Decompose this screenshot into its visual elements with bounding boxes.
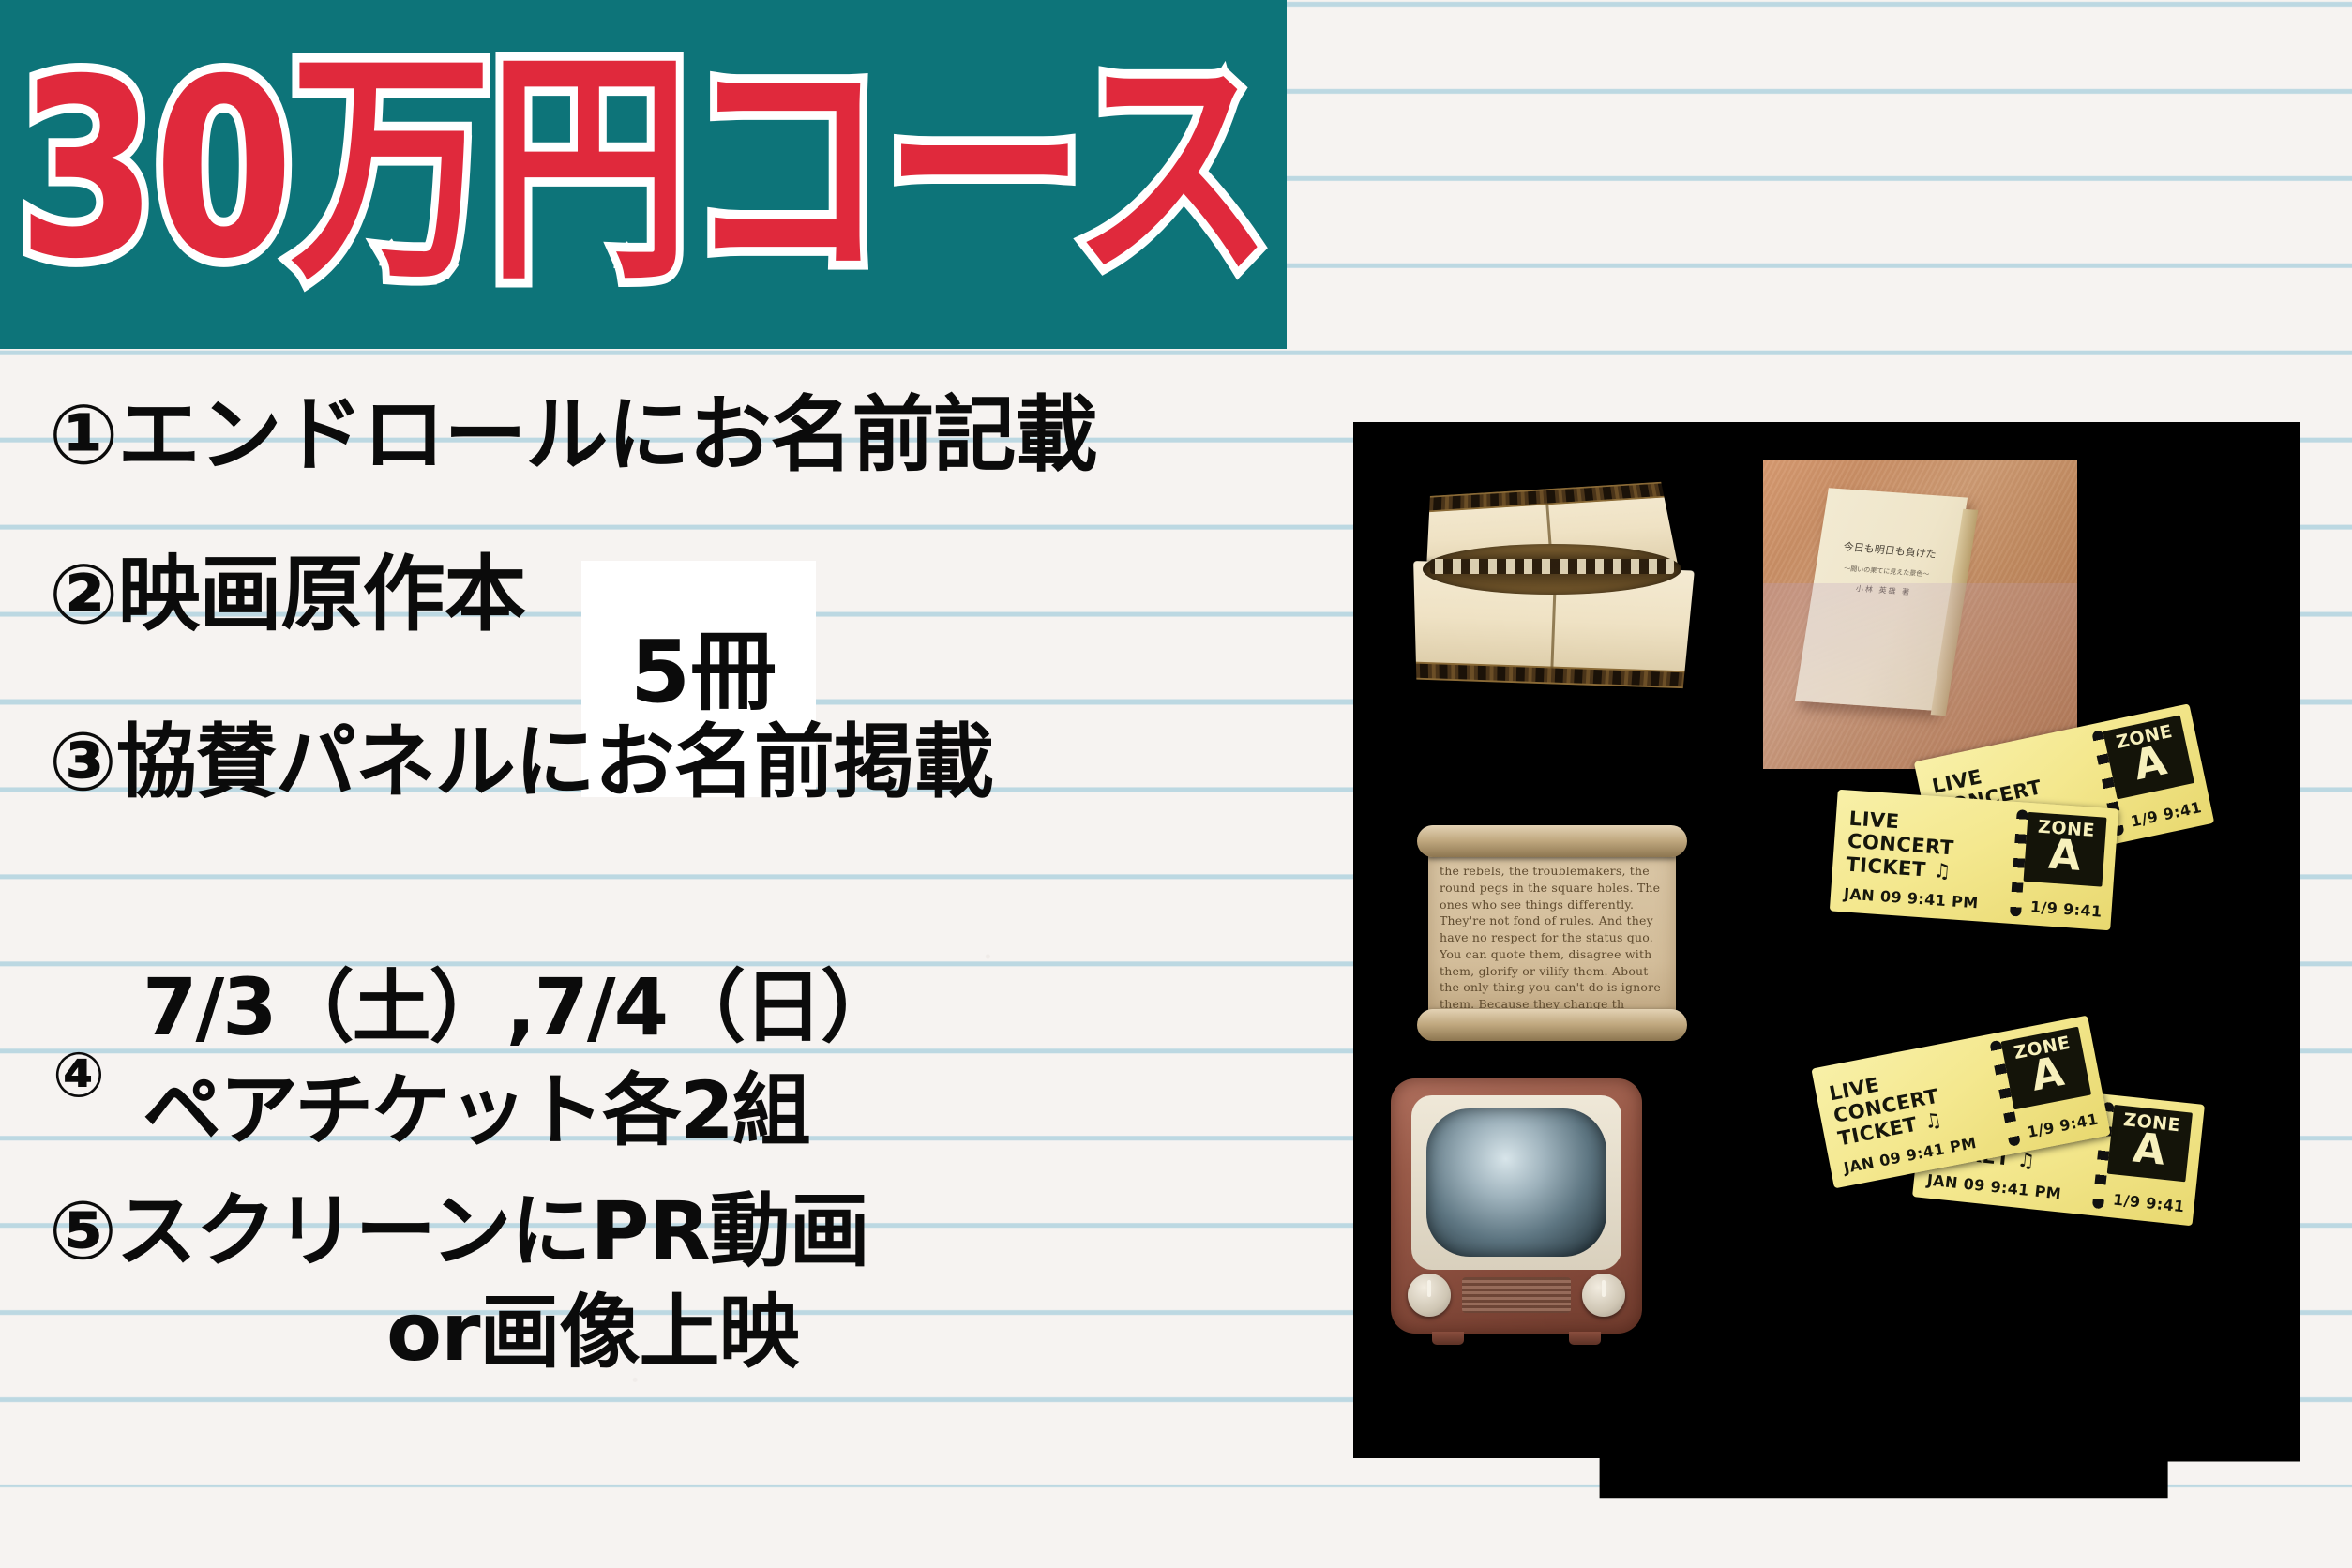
tv-foot-right [1569,1332,1601,1345]
benefit-item-5-line2: or画像上映 [386,1292,799,1373]
book-cover: 今日も明日も負けた 〜闘いの果てに見えた景色〜 小林 英雄 著 [1795,488,1968,711]
retro-tv-icon [1391,1078,1642,1360]
photo-collage-panel: 今日も明日も負けた 〜闘いの果てに見えた景色〜 小林 英雄 著 the rebe… [1353,422,2300,1522]
ticket-date-short: 1/9 9:41 [2112,1190,2185,1215]
ticket-zone-value: A [2024,833,2105,880]
ticket-date-short: 1/9 9:41 [2026,1110,2100,1141]
ticket-pair-lower: ZONE A LIVE CONCERT TICKET ♫ JAN 09 9:41… [1820,1032,2224,1266]
ticket-zone-badge: ZONE A [2103,716,2194,800]
benefit-item-1: ①エンドロールにお名前記載 [49,394,1097,476]
page-title: 30万円コース [17,46,1269,292]
benefit-item-2: ②映画原作本 [49,553,526,636]
tv-foot-left [1432,1332,1464,1345]
ticket-title-text: LIVE CONCERT TICKET ♫ [1846,807,1956,883]
benefit-item-4-line2: ペアチケット各2組 [143,1071,809,1150]
parchment-scroll-icon: the rebels, the troublemakers, the round… [1411,808,1693,1043]
tv-screen [1426,1108,1606,1257]
ticket-zone-badge: ZONE A [2024,812,2107,887]
ticket-zone-badge: ZONE A [2001,1027,2092,1110]
benefit-item-3: ③協賛パネルにお名前掲載 [49,722,993,803]
ticket-pair-upper: ZONE A LIVE CONCERT TICKET ♫ JAN 09 9:41… [1833,731,2227,947]
tv-bezel [1411,1095,1621,1270]
book-photo: 今日も明日も負けた 〜闘いの果てに見えた景色〜 小林 英雄 著 [1763,460,2077,769]
book-title-text: 今日も明日も負けた [1837,540,1942,562]
benefit-item-2-count: 5冊 [630,602,776,727]
benefit-item-4-line1: 7/3（土）,7/4（日） [143,968,897,1047]
ticket-zone-badge: ZONE A [2107,1105,2193,1182]
ticket-date-long: JAN 09 9:41 PM [1926,1171,2062,1203]
ticket-front: ZONE A LIVE CONCERT TICKET ♫ JAN 09 9:41… [1830,790,2118,931]
benefit-item-5-line1: ⑤スクリーンにPR動画 [49,1191,869,1272]
film-strip-icon [1408,467,1696,711]
ticket-date-short: 1/9 9:41 [2129,798,2203,831]
ticket-date-long: JAN 09 9:41 PM [1843,884,1979,912]
scroll-roll-top [1417,825,1687,857]
scroll-quote-text: the rebels, the troublemakers, the round… [1440,863,1666,1011]
book-subtitle-text: 〜闘いの果てに見えた景色〜 [1836,564,1937,580]
ticket-zone-value: A [2108,1125,2191,1175]
slide-root: 30万円コース ①エンドロールにお名前記載 ②映画原作本 5冊 ③協賛パネルにお… [0,0,2352,1568]
ticket-title-text: LIVE CONCERT TICKET ♫ [1828,1063,1946,1150]
film-curl [1423,544,1681,595]
tv-speaker-grille [1462,1277,1571,1313]
book-author-text: 小林 英雄 著 [1833,582,1935,599]
ticket-date-short: 1/9 9:41 [2029,897,2103,920]
title-banner: 30万円コース [0,0,1287,349]
scroll-roll-bottom [1417,1009,1687,1041]
tv-knob-left [1408,1274,1451,1317]
tv-knob-right [1582,1274,1625,1317]
tv-body [1391,1078,1642,1334]
benefit-item-4-marker: ④ [53,1045,105,1107]
